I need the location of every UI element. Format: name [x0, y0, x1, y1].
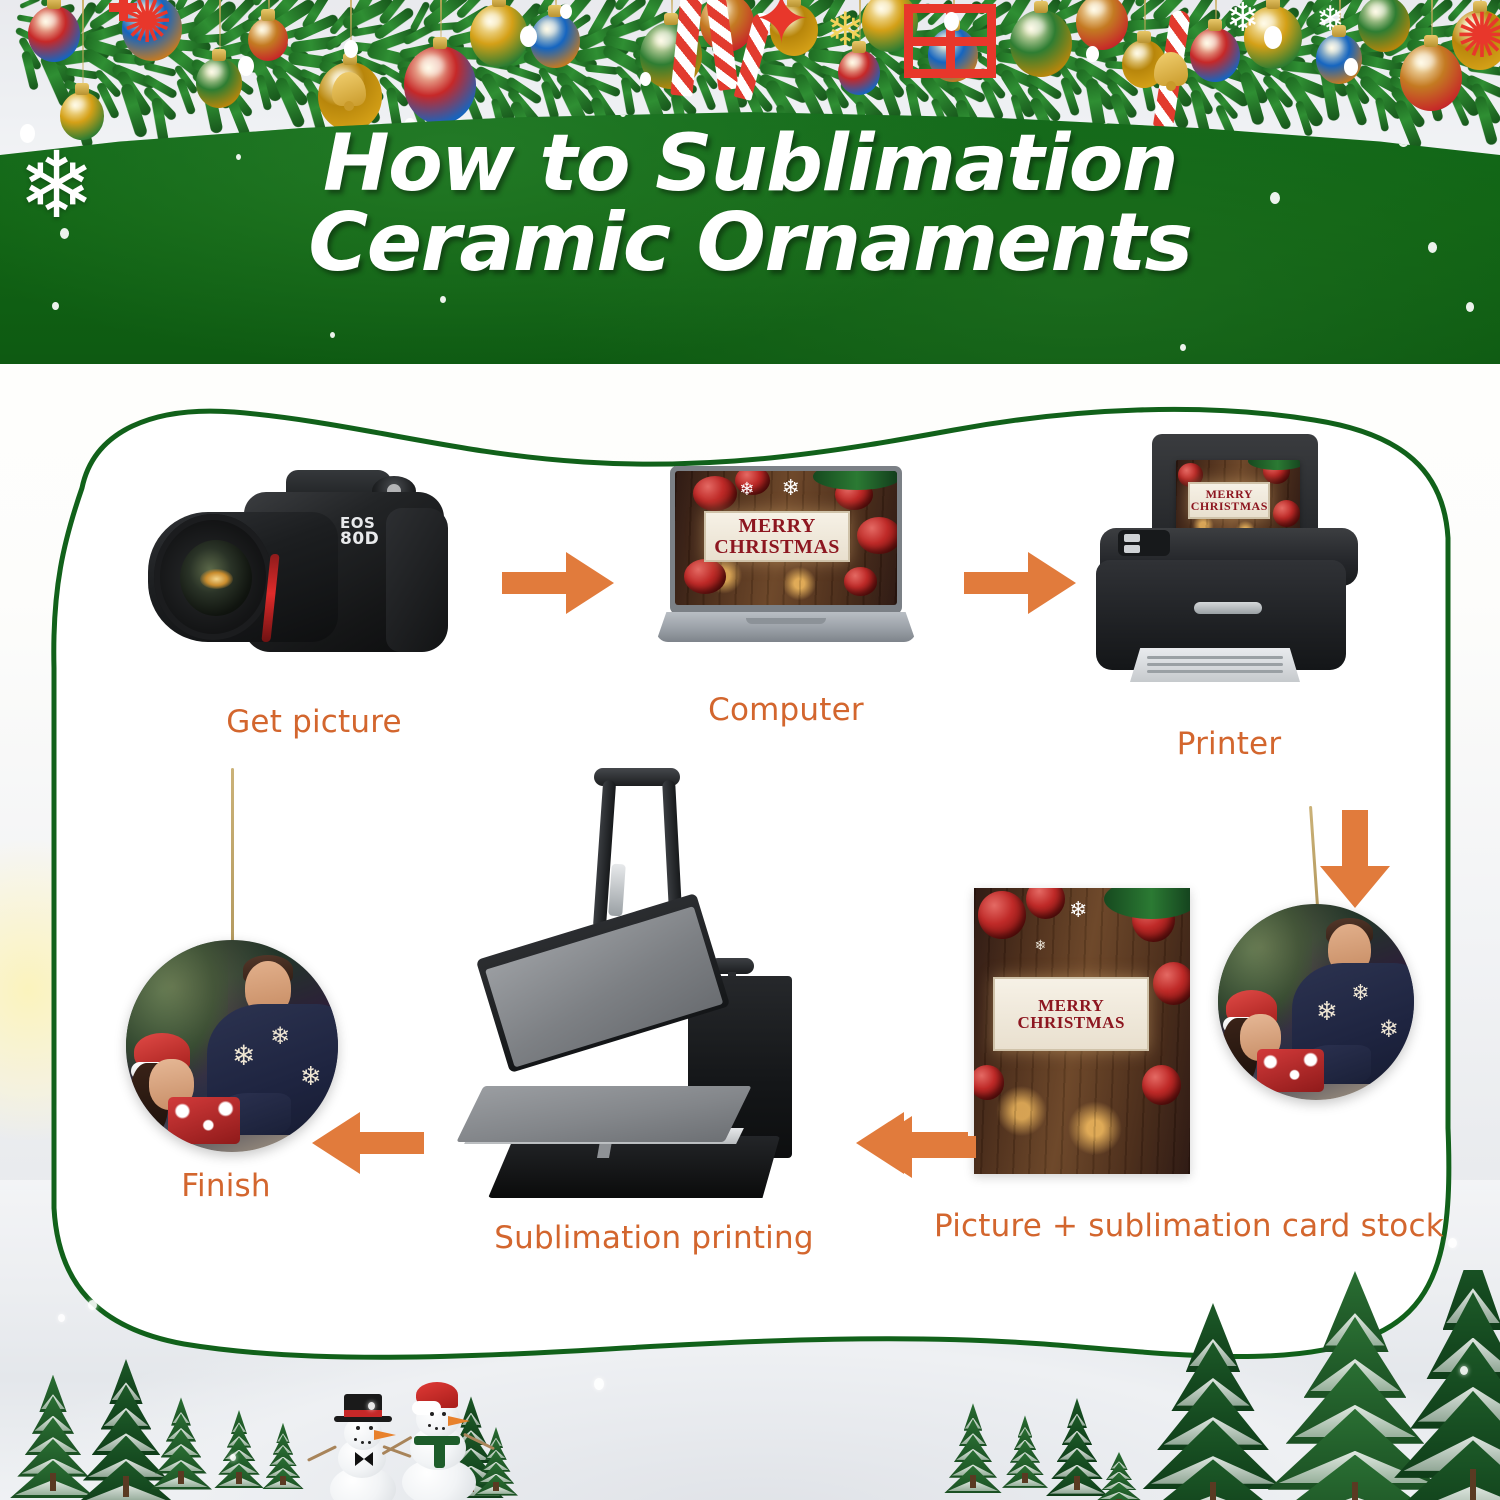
ceramic-ornament-icon: ❄ ❄ ❄	[100, 768, 360, 1188]
dslr-camera-icon: EOS 80D	[134, 468, 464, 678]
infographic-page: ✺✦✺❄❄❄ ❄ How to Sublimation Ceramic Orna…	[0, 0, 1500, 1500]
step-printer[interactable]: MERRY CHRISTMAS Printer	[1064, 434, 1394, 764]
step-label-printer: Printer	[1064, 726, 1394, 762]
couple-photo-finished: ❄ ❄ ❄	[126, 940, 338, 1152]
printed-sheet-icon: ❄ ❄ MERRY CHRISTMAS	[974, 888, 1190, 1174]
page-title: How to Sublimation Ceramic Ornaments	[0, 126, 1500, 282]
heat-press-icon	[474, 768, 804, 1208]
snowman-with-santa-hat-icon	[382, 1386, 502, 1500]
step-label-get-picture: Get picture	[134, 704, 494, 740]
step-label-sublimation-printing: Sublimation printing	[424, 1220, 884, 1256]
step-sublimation-printing[interactable]: Sublimation printing	[424, 768, 884, 1268]
step-card-stock[interactable]: ❄ ❄ MERRY CHRISTMAS Picture + sublimatio…	[934, 868, 1434, 1288]
step-get-picture[interactable]: EOS 80D Get picture	[134, 468, 494, 768]
step-computer[interactable]: ❄ ❄ MERRY CHRISTMAS Computer	[636, 466, 936, 756]
laptop-icon: ❄ ❄ MERRY CHRISTMAS	[656, 466, 916, 656]
merry-christmas-artwork: ❄ ❄ MERRY CHRISTMAS	[675, 471, 897, 605]
step-label-card-stock: Picture + sublimation card stock	[934, 1208, 1434, 1244]
arrow-cardstock-to-press	[862, 1112, 976, 1182]
step-label-finish: Finish	[76, 1168, 376, 1204]
step-finish[interactable]: ❄ ❄ ❄ Finish	[76, 768, 376, 1248]
camera-model-label: EOS 80D	[340, 516, 379, 549]
step-label-computer: Computer	[636, 692, 936, 728]
snow-scene-border	[0, 1270, 1500, 1500]
flow-card: EOS 80D Get picture	[24, 368, 1476, 1378]
printer-icon: MERRY CHRISTMAS	[1088, 434, 1368, 694]
title-line-2: Ceramic Ornaments	[0, 203, 1500, 282]
